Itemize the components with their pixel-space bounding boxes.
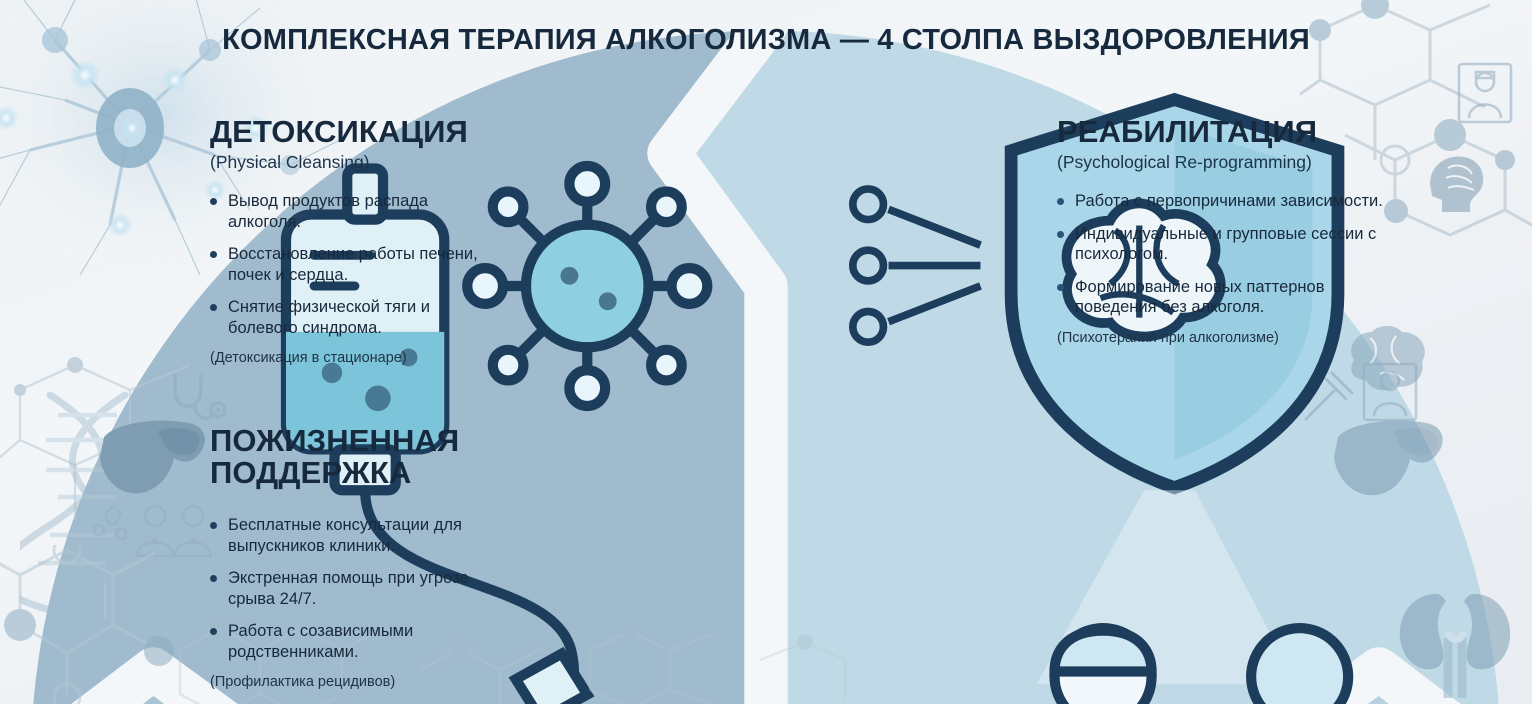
list-item: Бесплатные консультации для выпускников … [210, 515, 510, 556]
panel-subheading-detox: (Physical Cleansing) [210, 152, 485, 173]
list-item: Снятие физической тяги и болевого синдро… [210, 297, 485, 338]
infographic-poster: КОМПЛЕКСНАЯ ТЕРАПИЯ АЛКОГОЛИЗМА — 4 СТОЛ… [0, 0, 1532, 704]
panel-rehab: РЕАБИЛИТАЦИЯ (Psychological Re-programmi… [1057, 116, 1387, 346]
list-item: Экстренная помощь при угрозе срыва 24/7. [210, 568, 510, 609]
panel-bullet-list-rehab: Работа с первопричинами зависимости. Инд… [1057, 191, 1387, 317]
virus-molecule-icon [467, 166, 707, 406]
list-item: Восстановление работы печени, почек и се… [210, 244, 485, 285]
list-item: Формирование новых паттернов поведения б… [1057, 277, 1387, 318]
panel-support: ПОЖИЗНЕННАЯ ПОДДЕРЖКА Бесплатные консуль… [210, 425, 510, 690]
list-item: Работа с созависимыми родственниками. [210, 621, 510, 662]
list-item: Работа с первопричинами зависимости. [1057, 191, 1387, 211]
panel-heading-detox: ДЕТОКСИКАЦИЯ [210, 116, 485, 148]
list-item: Индивидуальные и групповые сессии с псих… [1057, 224, 1387, 265]
panel-note-detox: (Детоксикация в стационаре) [210, 350, 485, 366]
panel-detox: ДЕТОКСИКАЦИЯ (Physical Cleansing) Вывод … [210, 116, 485, 366]
list-item: Вывод продуктов распада алкоголя. [210, 191, 485, 232]
panel-note-support: (Профилактика рецидивов) [210, 674, 510, 690]
poster-title-bar: КОМПЛЕКСНАЯ ТЕРАПИЯ АЛКОГОЛИЗМА — 4 СТОЛ… [0, 24, 1532, 57]
panel-bullet-list-detox: Вывод продуктов распада алкоголя. Восста… [210, 191, 485, 338]
panel-subheading-rehab: (Psychological Re-programming) [1057, 152, 1387, 173]
panel-bullet-list-support: Бесплатные консультации для выпускников … [210, 515, 510, 662]
page-title: КОМПЛЕКСНАЯ ТЕРАПИЯ АЛКОГОЛИЗМА — 4 СТОЛ… [222, 24, 1310, 57]
panel-heading-support: ПОЖИЗНЕННАЯ ПОДДЕРЖКА [210, 425, 510, 489]
panel-heading-rehab: РЕАБИЛИТАЦИЯ [1057, 116, 1387, 148]
panel-note-rehab: (Психотерапия при алкоголизме) [1057, 330, 1387, 346]
